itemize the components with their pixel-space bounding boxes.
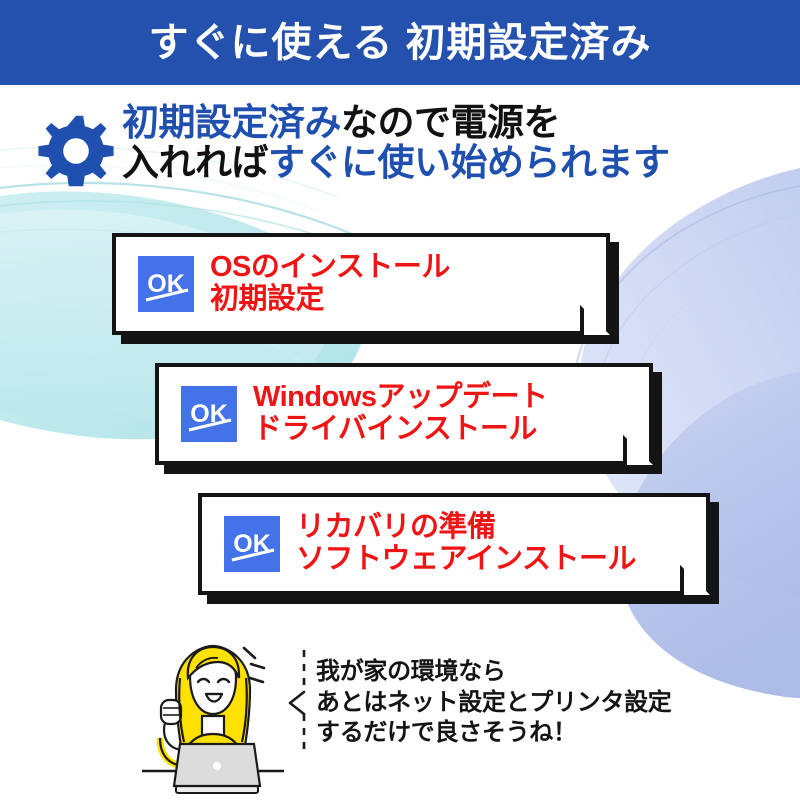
folded-corner [623,435,653,465]
speech-line-1: 我が家の環境なら [316,657,672,688]
checklist-item-3: OK リカバリの準備 ソフトウェアインストール [198,493,710,595]
speech-text: 我が家の環境なら あとはネット設定とプリンタ設定 するだけで良さそうね！ [316,657,672,749]
ok-badge-icon: OK [181,386,237,442]
headline-body-1: なので電源を [341,102,560,143]
gear-icon [36,111,116,191]
speech-line-3: するだけで良さそうね！ [316,718,672,749]
box-body: OK Windowsアップデート ドライバインストール [155,363,653,465]
checklist-line-3b: ソフトウェアインストール [296,544,636,576]
checklist-text-3: リカバリの準備 ソフトウェアインストール [296,512,636,576]
headline-text: 初期設定済みなので電源を 入れればすぐに使い始められます [122,103,776,183]
headline-line-1: 初期設定済みなので電源を [122,103,776,143]
checklist-item-1: OK OSのインストール 初期設定 [112,233,610,335]
checklist-line-3a: リカバリの準備 [296,512,636,544]
folded-corner [680,565,710,595]
speech-bubble: 我が家の環境なら あとはネット設定とプリンタ設定 するだけで良さそうね！ [286,648,672,758]
speech-line-2: あとはネット設定とプリンタ設定 [316,688,672,719]
checklist-line-2b: ドライバインストール [253,414,548,446]
headline-line-2: 入れればすぐに使い始められます [122,143,776,183]
checklist-text-1: OSのインストール 初期設定 [210,252,450,316]
woman-at-laptop-illustration [138,638,288,798]
header-title: すぐに使える 初期設定済み [149,23,652,63]
header-banner: すぐに使える 初期設定済み [0,0,800,85]
ok-badge-icon: OK [224,516,280,572]
speech-bracket-icon [286,648,308,758]
box-body: OK リカバリの準備 ソフトウェアインストール [198,493,710,595]
folded-corner [580,305,610,335]
checklist-item-2: OK Windowsアップデート ドライバインストール [155,363,653,465]
headline-block: 初期設定済みなので電源を 入れればすぐに使い始められます [36,103,776,183]
checklist-line-2a: Windowsアップデート [253,382,548,414]
ok-badge-icon: OK [138,256,194,312]
checklist-text-2: Windowsアップデート ドライバインストール [253,382,548,446]
promo-poster: すぐに使える 初期設定済み 初期設定済みなので電源を 入れればすぐに使い始められ… [0,0,800,800]
checklist-line-1b: 初期設定 [210,284,450,316]
headline-accent-2: すぐに使い始められます [268,142,670,183]
box-body: OK OSのインストール 初期設定 [112,233,610,335]
headline-accent-1: 初期設定済み [122,102,341,143]
headline-body-2: 入れれば [122,142,268,183]
checklist-line-1a: OSのインストール [210,252,450,284]
